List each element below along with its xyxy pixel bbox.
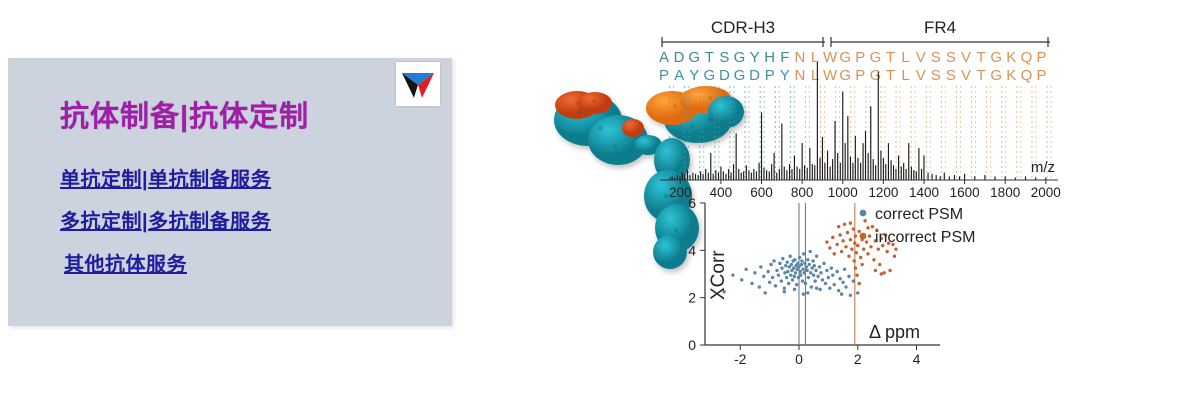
- svg-text:Y: Y: [780, 67, 790, 84]
- svg-text:P: P: [1036, 67, 1046, 84]
- scatter-x-ticks: -2024: [734, 345, 921, 367]
- promo-panel: 抗体制备|抗体定制 单抗定制|单抗制备服务 多抗定制|多抗制备服务 其他抗体服务: [8, 58, 452, 326]
- svg-text:Q: Q: [1021, 49, 1033, 66]
- legend-label-correct: correct PSM: [875, 206, 963, 223]
- svg-text:G: G: [734, 67, 746, 84]
- svg-text:G: G: [734, 49, 746, 66]
- svg-text:Y: Y: [750, 49, 760, 66]
- spectrum-x-axis-label: m/z: [1031, 159, 1055, 176]
- svg-text:W: W: [823, 67, 838, 84]
- svg-text:P: P: [855, 67, 865, 84]
- svg-text:T: T: [977, 49, 986, 66]
- svg-text:N: N: [794, 49, 805, 66]
- svg-text:A: A: [674, 67, 684, 84]
- svg-text:K: K: [1006, 67, 1016, 84]
- legend-label-incorrect: incorrect PSM: [875, 229, 975, 246]
- chevron-logo-svg: [400, 68, 436, 100]
- svg-text:1800: 1800: [990, 185, 1020, 200]
- svg-text:1600: 1600: [950, 185, 980, 200]
- svg-text:P: P: [855, 49, 865, 66]
- svg-text:-2: -2: [734, 351, 747, 367]
- svg-text:H: H: [764, 49, 775, 66]
- svg-text:S: S: [931, 49, 941, 66]
- page-title: 抗体制备|抗体定制: [60, 93, 309, 135]
- svg-text:P: P: [659, 67, 669, 84]
- svg-text:2: 2: [854, 351, 862, 367]
- svg-text:Y: Y: [689, 67, 699, 84]
- svg-text:1000: 1000: [828, 185, 858, 200]
- svg-text:T: T: [886, 67, 895, 84]
- svg-text:Q: Q: [1021, 67, 1033, 84]
- svg-text:D: D: [749, 67, 760, 84]
- svg-text:S: S: [946, 67, 956, 84]
- svg-text:S: S: [946, 49, 956, 66]
- scatter-legend: correct PSM incorrect PSM: [860, 206, 976, 246]
- svg-text:G: G: [839, 67, 851, 84]
- svg-text:G: G: [870, 67, 882, 84]
- svg-text:N: N: [794, 67, 805, 84]
- promo-link-mono-antibody[interactable]: 单抗定制|单抗制备服务: [60, 163, 271, 192]
- svg-text:4: 4: [913, 351, 921, 367]
- svg-text:G: G: [839, 49, 851, 66]
- svg-text:L: L: [901, 67, 909, 84]
- svg-text:600: 600: [750, 185, 773, 200]
- svg-text:D: D: [719, 67, 730, 84]
- scatter-points: [722, 219, 897, 297]
- svg-text:1200: 1200: [868, 185, 898, 200]
- svg-text:2000: 2000: [1031, 185, 1061, 200]
- legend-swatch-incorrect: [860, 233, 867, 240]
- svg-text:V: V: [916, 49, 926, 66]
- svg-text:L: L: [901, 49, 909, 66]
- svg-text:V: V: [961, 49, 971, 66]
- svg-text:P: P: [765, 67, 775, 84]
- svg-text:F: F: [780, 49, 789, 66]
- sequence-letters: APDAGYTGSDGGYDHPFYNNLLWWGGPPGGTTLLVVSSSS…: [659, 49, 1047, 84]
- chevron-logo: [396, 62, 440, 106]
- scientific-figure: CDR-H3 FR4 APDAGYTGSDGGYDHPFYNNLLWWGGPPG…: [520, 0, 1200, 400]
- svg-text:G: G: [990, 67, 1002, 84]
- svg-text:V: V: [961, 67, 971, 84]
- figure-svg: CDR-H3 FR4 APDAGYTGSDGGYDHPFYNNLLWWGGPPG…: [520, 0, 1200, 400]
- svg-text:G: G: [870, 49, 882, 66]
- svg-text:0: 0: [795, 351, 803, 367]
- legend-swatch-correct: [860, 210, 867, 217]
- svg-text:A: A: [659, 49, 669, 66]
- svg-text:400: 400: [710, 185, 733, 200]
- region-label-cdr-h3: CDR-H3: [711, 18, 775, 37]
- promo-link-poly-antibody[interactable]: 多抗定制|多抗制备服务: [60, 205, 271, 234]
- svg-text:S: S: [719, 49, 729, 66]
- scatter-x-axis-label: Δ ppm: [869, 322, 920, 342]
- svg-text:G: G: [990, 49, 1002, 66]
- svg-text:G: G: [688, 49, 700, 66]
- spectrum-x-ticks: 200400600800100012001400160018002000: [669, 180, 1061, 200]
- svg-text:800: 800: [791, 185, 814, 200]
- svg-text:K: K: [1006, 49, 1016, 66]
- svg-text:2: 2: [688, 290, 696, 306]
- svg-text:G: G: [703, 67, 715, 84]
- svg-text:T: T: [705, 49, 714, 66]
- svg-text:S: S: [931, 67, 941, 84]
- promo-link-other-antibody[interactable]: 其他抗体服务: [64, 248, 187, 277]
- xcorr-scatter-chart: 0246 -2024 XCorr Δ ppm correct PSM incor…: [688, 195, 975, 367]
- svg-text:1400: 1400: [909, 185, 939, 200]
- svg-text:T: T: [886, 49, 895, 66]
- sequence-region-brackets: [662, 37, 1050, 47]
- svg-text:T: T: [977, 67, 986, 84]
- scatter-threshold-lines: [799, 203, 855, 345]
- svg-text:0: 0: [688, 337, 696, 353]
- svg-text:D: D: [674, 49, 685, 66]
- region-label-fr4: FR4: [924, 18, 956, 37]
- scatter-y-axis-label: XCorr: [708, 250, 729, 300]
- svg-text:6: 6: [688, 195, 696, 211]
- svg-text:W: W: [823, 49, 838, 66]
- svg-text:P: P: [1036, 49, 1046, 66]
- svg-text:4: 4: [688, 242, 696, 258]
- svg-text:V: V: [916, 67, 926, 84]
